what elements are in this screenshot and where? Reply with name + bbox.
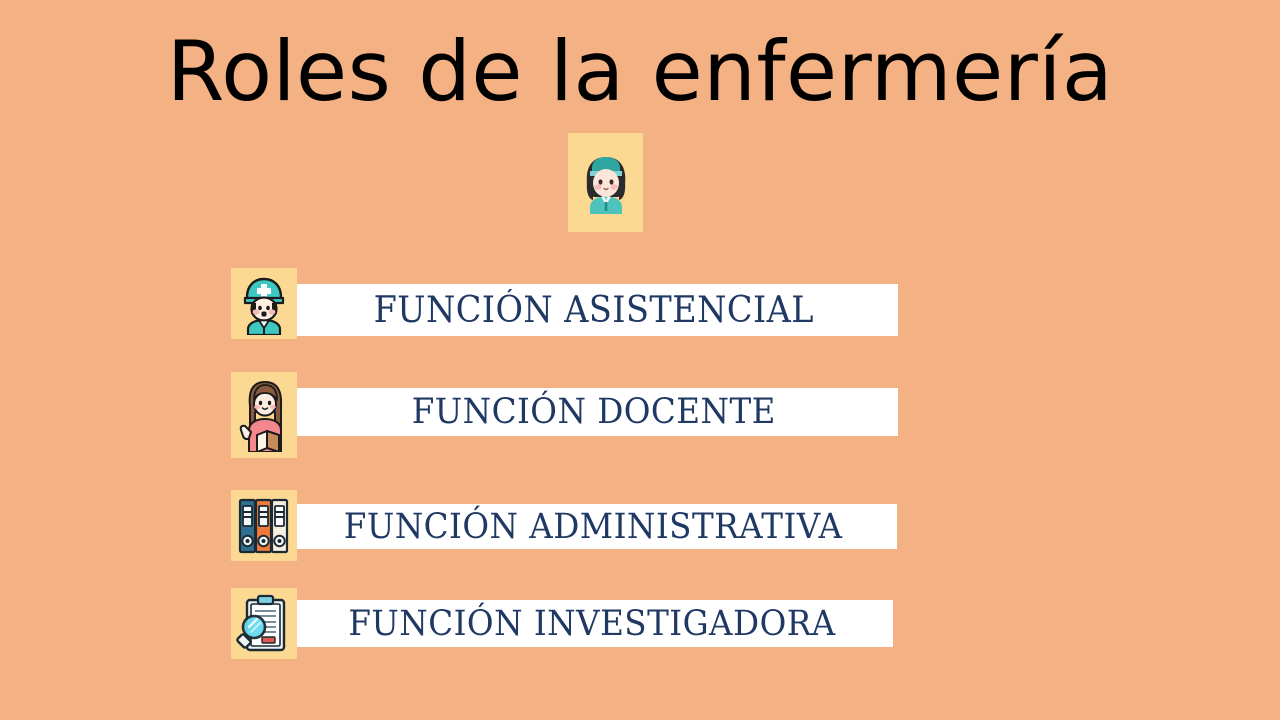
slide-canvas: Roles de la enfermería: [0, 0, 1280, 720]
role-label-investigadora: FUNCIÓN INVESTIGADORA: [348, 604, 835, 644]
role-label-bar: FUNCIÓN DOCENTE: [290, 388, 898, 436]
role-label-asistencial: FUNCIÓN ASISTENCIAL: [374, 290, 814, 331]
page-title: Roles de la enfermería: [0, 24, 1280, 120]
clipboard-magnifier-icon-tile: [231, 588, 297, 659]
role-label-bar: FUNCIÓN ADMINISTRATIVA: [290, 504, 897, 549]
teacher-icon: [236, 378, 292, 452]
role-label-bar: FUNCIÓN ASISTENCIAL: [290, 284, 898, 336]
binders-icon-tile: [231, 490, 297, 561]
role-label-bar: FUNCIÓN INVESTIGADORA: [290, 600, 893, 647]
health-worker-icon-tile: [231, 268, 297, 339]
role-label-administrativa: FUNCIÓN ADMINISTRATIVA: [344, 507, 843, 547]
health-worker-icon: [236, 273, 292, 335]
nurse-emoji-tile: [568, 133, 643, 232]
role-label-docente: FUNCIÓN DOCENTE: [412, 392, 776, 432]
teacher-icon-tile: [231, 372, 297, 458]
nurse-emoji-icon: [578, 152, 634, 214]
binders-icon: [237, 497, 291, 555]
clipboard-magnifier-icon: [236, 594, 292, 654]
